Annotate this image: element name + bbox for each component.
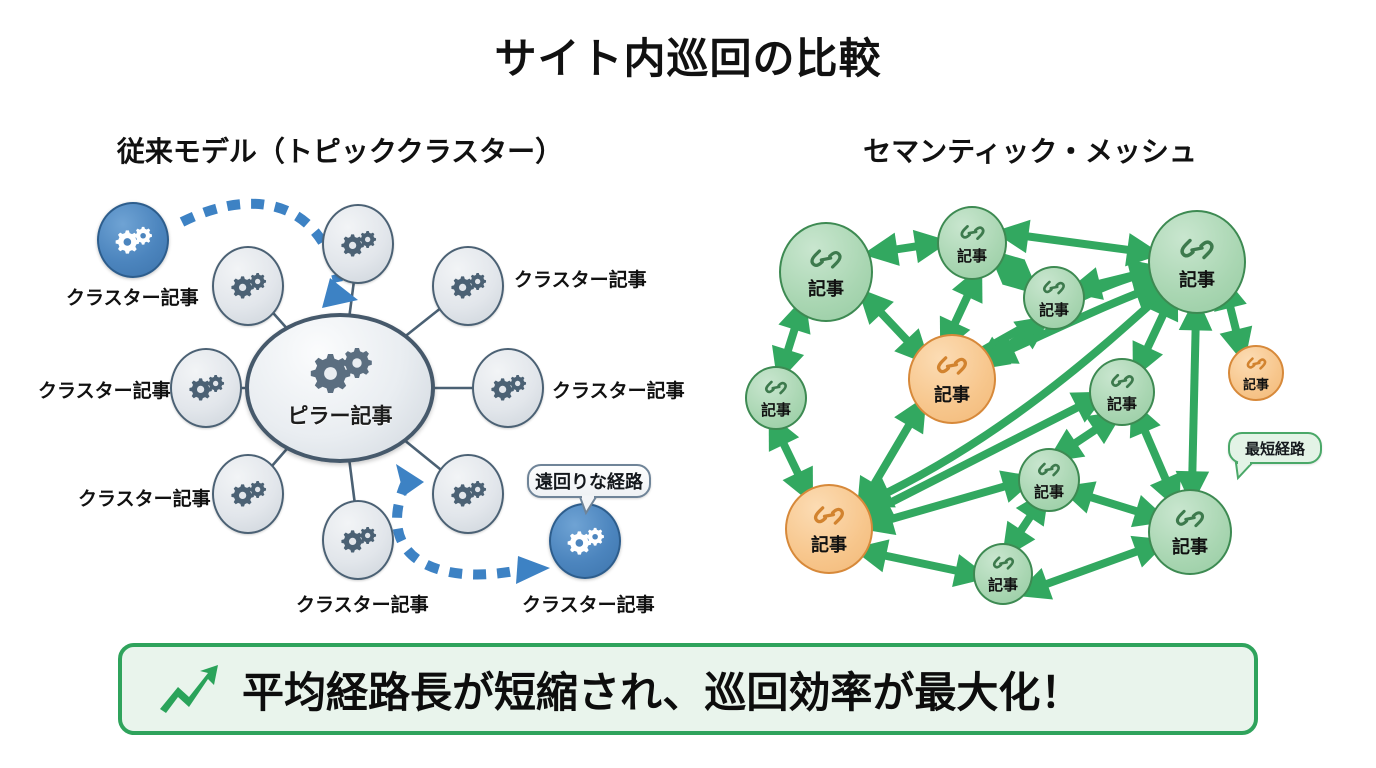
- mesh-node-label: 記事: [1172, 533, 1208, 559]
- shortest-path-callout: 最短経路: [1228, 432, 1322, 464]
- chain-link-icon: [1173, 505, 1207, 532]
- mesh-node-label: 記事: [957, 245, 987, 266]
- chain-link-icon: [958, 221, 987, 244]
- conclusion-banner-text: 平均経路長が短縮され、巡回効率が最大化！: [242, 659, 1082, 720]
- gears-icon: [563, 526, 607, 557]
- cluster-label-3: クラスター記事: [38, 376, 171, 403]
- mesh-node-label: 記事: [808, 275, 844, 301]
- detour-callout-label: 遠回りな経路: [535, 468, 643, 494]
- chain-link-icon: [1109, 370, 1136, 392]
- chain-link-icon: [1036, 459, 1062, 480]
- mesh-node-label: 記事: [934, 381, 970, 407]
- mesh-node-11[interactable]: 記事: [973, 543, 1033, 605]
- cluster-node-nw[interactable]: [212, 246, 284, 326]
- cluster-label-7: クラスター記事: [522, 590, 655, 617]
- cluster-node-w[interactable]: [170, 348, 242, 428]
- cluster-node-se[interactable]: [432, 454, 504, 534]
- gears-icon: [447, 271, 489, 301]
- cluster-node-n[interactable]: [322, 204, 394, 284]
- mesh-node-label: 記事: [1039, 299, 1069, 320]
- mesh-node-8-highlight[interactable]: 記事: [1228, 345, 1284, 401]
- mesh-node-12[interactable]: 記事: [1148, 489, 1232, 575]
- cluster-node-highlight-bottomright[interactable]: [549, 503, 621, 579]
- panel-heading-semantic-mesh: セマンティック・メッシュ: [760, 130, 1300, 170]
- chain-link-icon: [807, 244, 845, 274]
- mesh-node-5[interactable]: 記事: [745, 366, 807, 430]
- chain-link-icon: [811, 501, 847, 530]
- cluster-label-1: クラスター記事: [66, 283, 199, 310]
- panel-heading-traditional: 従来モデル（トピッククラスター）: [60, 130, 620, 170]
- mesh-node-label: 記事: [761, 399, 791, 420]
- mesh-node-label: 記事: [811, 531, 847, 557]
- chain-link-icon: [991, 553, 1016, 573]
- cluster-label-2: クラスター記事: [514, 265, 647, 292]
- chain-link-icon: [1245, 354, 1268, 373]
- mesh-node-1[interactable]: 記事: [779, 222, 873, 322]
- mesh-node-4[interactable]: 記事: [1148, 210, 1246, 314]
- pillar-article-label: ピラー記事: [288, 400, 393, 430]
- gears-icon: [337, 229, 379, 259]
- gears-icon: [487, 373, 529, 403]
- cluster-label-6: クラスター記事: [296, 590, 429, 617]
- chain-link-icon: [763, 377, 789, 398]
- mesh-node-10[interactable]: 記事: [1018, 448, 1080, 512]
- cluster-node-sw[interactable]: [212, 454, 284, 534]
- conclusion-banner: 平均経路長が短縮され、巡回効率が最大化！: [118, 643, 1258, 735]
- page-title: サイト内巡回の比較: [0, 25, 1376, 86]
- trending-up-arrow-icon: [156, 661, 222, 717]
- gears-icon: [185, 373, 227, 403]
- cluster-node-highlight-topleft[interactable]: [97, 202, 169, 278]
- gears-icon: [303, 346, 377, 396]
- chain-link-icon: [934, 351, 970, 380]
- cluster-label-4: クラスター記事: [552, 376, 685, 403]
- diagram-canvas: サイト内巡回の比較 従来モデル（トピッククラスター） セマンティック・メッシュ: [0, 0, 1376, 768]
- gears-icon: [227, 479, 269, 509]
- cluster-node-s[interactable]: [322, 500, 394, 580]
- mesh-node-label: 記事: [1034, 481, 1064, 502]
- gears-icon: [111, 225, 155, 256]
- mesh-node-3[interactable]: 記事: [1023, 266, 1085, 330]
- gears-icon: [447, 479, 489, 509]
- shortest-path-callout-label: 最短経路: [1245, 438, 1305, 459]
- mesh-node-7[interactable]: 記事: [1089, 358, 1155, 426]
- chain-link-icon: [1041, 277, 1067, 298]
- chain-link-icon: [1177, 233, 1217, 265]
- mesh-node-6-highlight[interactable]: 記事: [908, 334, 996, 424]
- gears-icon: [227, 271, 269, 301]
- cluster-label-5: クラスター記事: [78, 484, 211, 511]
- mesh-node-label: 記事: [1243, 374, 1269, 393]
- mesh-node-label: 記事: [988, 574, 1018, 595]
- pillar-article-node[interactable]: ピラー記事: [245, 313, 435, 463]
- mesh-node-2[interactable]: 記事: [937, 206, 1007, 280]
- cluster-node-e[interactable]: [472, 348, 544, 428]
- detour-callout: 遠回りな経路: [527, 464, 651, 498]
- mesh-node-9-highlight[interactable]: 記事: [785, 484, 873, 574]
- mesh-node-label: 記事: [1179, 266, 1215, 292]
- cluster-node-ne[interactable]: [432, 246, 504, 326]
- mesh-node-label: 記事: [1107, 393, 1137, 414]
- gears-icon: [337, 525, 379, 555]
